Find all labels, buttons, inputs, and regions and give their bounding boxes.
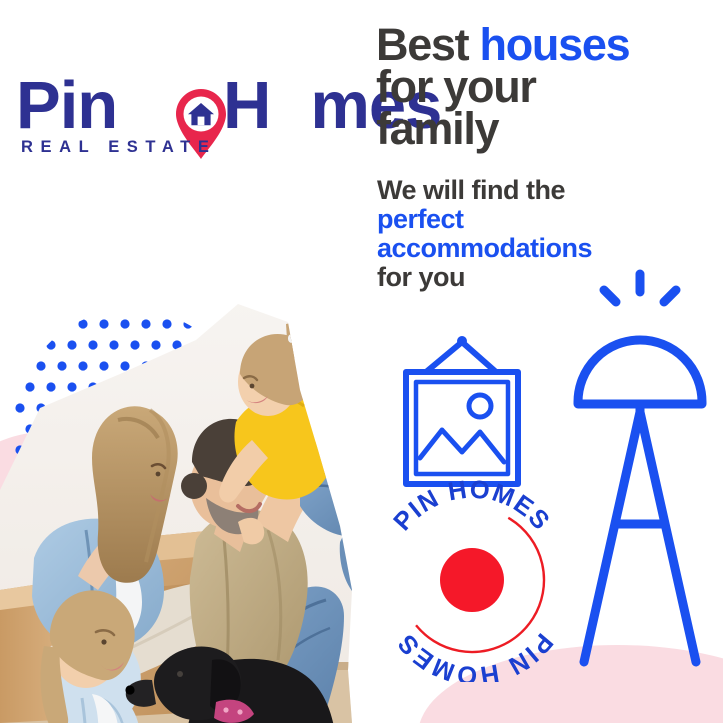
subheadline: We will find the perfect accommodations … bbox=[377, 176, 707, 293]
logo-tagline: REAL ESTATE bbox=[21, 138, 216, 157]
pin-homes-stamp-badge: PIN HOMES PIN HOMES bbox=[370, 478, 574, 682]
subheadline-line-1: We will find the bbox=[377, 176, 707, 205]
subheadline-line-4: for you bbox=[377, 263, 707, 292]
subheadline-line-2: perfect bbox=[377, 205, 707, 234]
stamp-center-dot bbox=[440, 548, 504, 612]
subheadline-line-3: accommodations bbox=[377, 234, 707, 263]
headline-line-1: Best houses bbox=[376, 24, 716, 66]
headline-line-3: family bbox=[376, 108, 716, 150]
brand-logo[interactable]: Pin Homes REAL ESTATE bbox=[16, 72, 356, 172]
headline-line-2: for your bbox=[376, 66, 716, 108]
headline: Best houses for your family bbox=[376, 24, 716, 150]
poster-canvas: PIN HOMES PIN HOMES Pin Homes REAL ESTAT… bbox=[0, 0, 723, 723]
floor-lamp-icon bbox=[560, 262, 723, 682]
family-moving-home-photo bbox=[0, 290, 420, 723]
stamp-text-top: PIN HOMES bbox=[388, 478, 555, 536]
logo-word-pin: Pin bbox=[16, 72, 117, 139]
stamp-text-bottom: PIN HOMES bbox=[392, 628, 558, 682]
